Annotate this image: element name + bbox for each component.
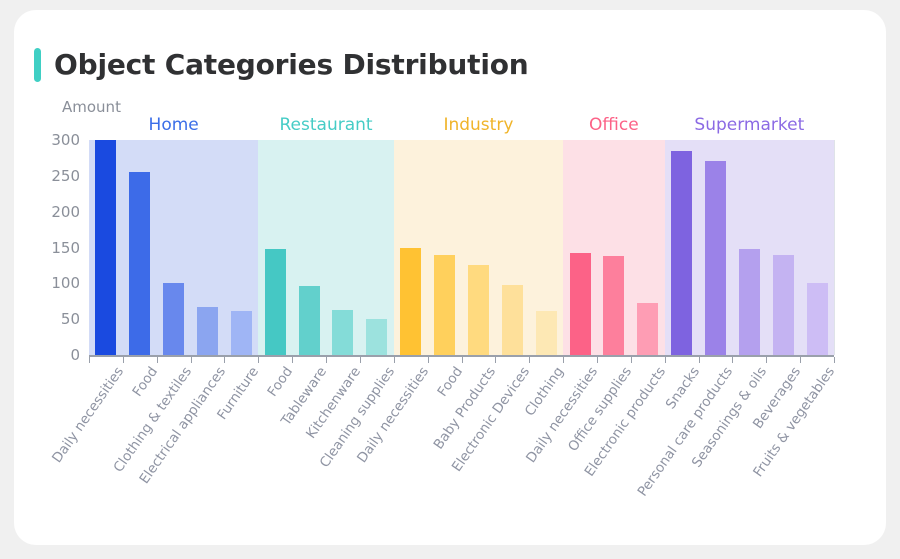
bar[interactable] xyxy=(231,311,252,355)
x-tick-mark xyxy=(224,357,225,363)
x-tick-mark xyxy=(123,357,124,363)
x-tick-mark xyxy=(292,357,293,363)
group-label-home: Home xyxy=(149,115,199,135)
bar[interactable] xyxy=(773,255,794,355)
x-tick-mark xyxy=(563,357,564,363)
x-tick-mark xyxy=(191,357,192,363)
bar[interactable] xyxy=(95,140,116,355)
group-label-supermarket: Supermarket xyxy=(694,115,804,135)
y-tick-label: 0 xyxy=(70,346,89,364)
x-tick-label: Food xyxy=(129,364,161,400)
bar[interactable] xyxy=(705,161,726,355)
y-axis-title: Amount xyxy=(62,98,121,116)
bar[interactable] xyxy=(637,303,658,355)
x-tick-mark xyxy=(428,357,429,363)
bar[interactable] xyxy=(468,265,489,355)
bar[interactable] xyxy=(671,151,692,355)
x-tick-mark xyxy=(834,357,835,363)
x-tick-mark xyxy=(394,357,395,363)
x-tick-mark xyxy=(495,357,496,363)
x-tick-mark xyxy=(529,357,530,363)
chart-header: Object Categories Distribution xyxy=(34,48,529,82)
bar[interactable] xyxy=(739,249,760,355)
y-tick-label: 50 xyxy=(61,310,89,328)
bar[interactable] xyxy=(299,286,320,355)
x-tick-mark xyxy=(326,357,327,363)
x-tick-label: Food xyxy=(265,364,297,400)
x-tick-mark xyxy=(631,357,632,363)
bar[interactable] xyxy=(434,255,455,355)
bar[interactable] xyxy=(265,249,286,355)
x-tick-mark xyxy=(360,357,361,363)
y-tick-label: 250 xyxy=(51,167,89,185)
x-tick-mark xyxy=(699,357,700,363)
bar[interactable] xyxy=(502,285,523,355)
y-tick-label: 300 xyxy=(51,131,89,149)
x-tick-label: Daily necessities xyxy=(49,364,127,466)
x-tick-mark xyxy=(800,357,801,363)
x-tick-mark xyxy=(462,357,463,363)
bar[interactable] xyxy=(332,310,353,355)
bar[interactable] xyxy=(807,283,828,355)
bar[interactable] xyxy=(163,283,184,355)
bar[interactable] xyxy=(603,256,624,355)
y-tick-label: 100 xyxy=(51,274,89,292)
bar[interactable] xyxy=(536,311,557,355)
x-tick-mark xyxy=(732,357,733,363)
bar[interactable] xyxy=(366,319,387,355)
x-tick-mark xyxy=(766,357,767,363)
y-tick-label: 150 xyxy=(51,239,89,257)
bar[interactable] xyxy=(197,307,218,355)
group-label-restaurant: Restaurant xyxy=(279,115,372,135)
bar[interactable] xyxy=(129,172,150,355)
bar[interactable] xyxy=(400,248,421,356)
title-accent-bar xyxy=(34,48,41,82)
x-tick-mark xyxy=(665,357,666,363)
x-tick-mark xyxy=(258,357,259,363)
right-axis-line xyxy=(834,140,835,355)
y-tick-label: 200 xyxy=(51,203,89,221)
bar-chart-plot: 050100150200250300 HomeRestaurantIndustr… xyxy=(89,140,834,355)
x-tick-mark xyxy=(157,357,158,363)
bar[interactable] xyxy=(570,253,591,355)
x-tick-mark xyxy=(597,357,598,363)
group-label-industry: Industry xyxy=(443,115,513,135)
x-tick-mark xyxy=(89,357,90,363)
x-tick-label: Food xyxy=(434,364,466,400)
group-label-office: Office xyxy=(589,115,639,135)
chart-card: Object Categories Distribution Amount 05… xyxy=(14,10,886,545)
page-title: Object Categories Distribution xyxy=(54,51,529,79)
